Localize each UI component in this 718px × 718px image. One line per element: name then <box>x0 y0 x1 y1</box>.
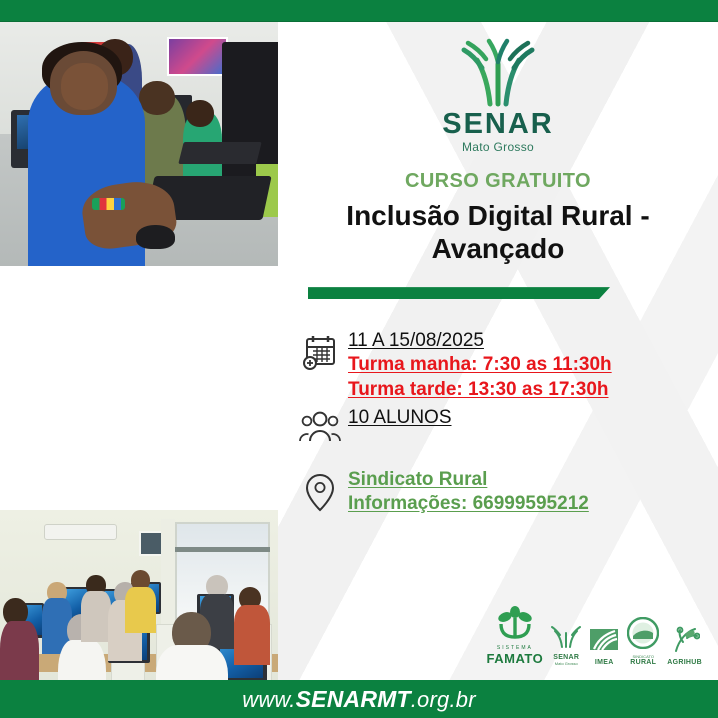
senar-partner-logo: SENAR Mato Grosso <box>551 623 581 666</box>
famato-label: FAMATO <box>487 651 544 666</box>
url-prefix: www. <box>242 687 295 712</box>
location-name: Sindicato Rural <box>348 468 718 492</box>
famato-logo: SISTEMA FAMATO <box>487 606 544 666</box>
calendar-icon <box>292 329 348 373</box>
info-row-location: Sindicato Rural Informações: 66999595212 <box>292 468 718 517</box>
afternoon-class-time: Turma tarde: 13:30 as 17:30h <box>348 378 718 402</box>
agrihub-logo: AGRIHUB <box>667 626 702 666</box>
contact-info: Informações: 66999595212 <box>348 492 718 516</box>
course-dates: 11 A 15/08/2025 <box>348 329 718 353</box>
course-info: 11 A 15/08/2025 Turma manha: 7:30 as 11:… <box>278 329 718 517</box>
sindicato-rural-logo: SINDICATO RURAL <box>627 617 659 666</box>
free-course-label: CURSO GRATUITO <box>278 170 718 193</box>
imea-logo: IMEA <box>589 628 619 666</box>
senar-wheat-logo-icon <box>455 38 541 108</box>
imea-label: IMEA <box>589 659 619 666</box>
senar-wordmark: SENAR <box>278 110 718 139</box>
senar-brand-block: SENAR Mato Grosso <box>278 22 718 154</box>
content-panel: SENAR Mato Grosso CURSO GRATUITO Inclusã… <box>278 22 718 680</box>
agrihub-label: AGRIHUB <box>667 659 702 666</box>
senar-partner-label: SENAR <box>551 654 581 661</box>
morning-class-time: Turma manha: 7:30 as 11:30h <box>348 353 718 377</box>
rural-label: RURAL <box>627 659 659 666</box>
info-row-date: 11 A 15/08/2025 Turma manha: 7:30 as 11:… <box>292 329 718 402</box>
senar-state-label: Mato Grosso <box>278 140 718 154</box>
map-pin-icon <box>292 468 348 514</box>
footer-bar: www.SENARMT.org.br <box>0 680 718 718</box>
partner-logos: SISTEMA FAMATO SENAR Mato Grosso <box>487 606 702 666</box>
url-brand: SENARMT <box>296 686 411 712</box>
photo-column <box>0 22 278 680</box>
students-count: 10 ALUNOS <box>348 406 718 430</box>
course-poster: SENAR Mato Grosso CURSO GRATUITO Inclusã… <box>0 0 718 718</box>
green-divider <box>308 287 610 299</box>
url-suffix: .org.br <box>411 687 476 712</box>
top-green-bar <box>0 0 718 22</box>
course-title: Inclusão Digital Rural - Avançado <box>278 199 718 265</box>
website-url: www.SENARMT.org.br <box>242 686 475 713</box>
photo-kids-computer-lab <box>0 22 278 266</box>
info-row-students: 10 ALUNOS <box>292 406 718 444</box>
senar-partner-sub: Mato Grosso <box>551 661 581 666</box>
people-group-icon <box>292 406 348 444</box>
